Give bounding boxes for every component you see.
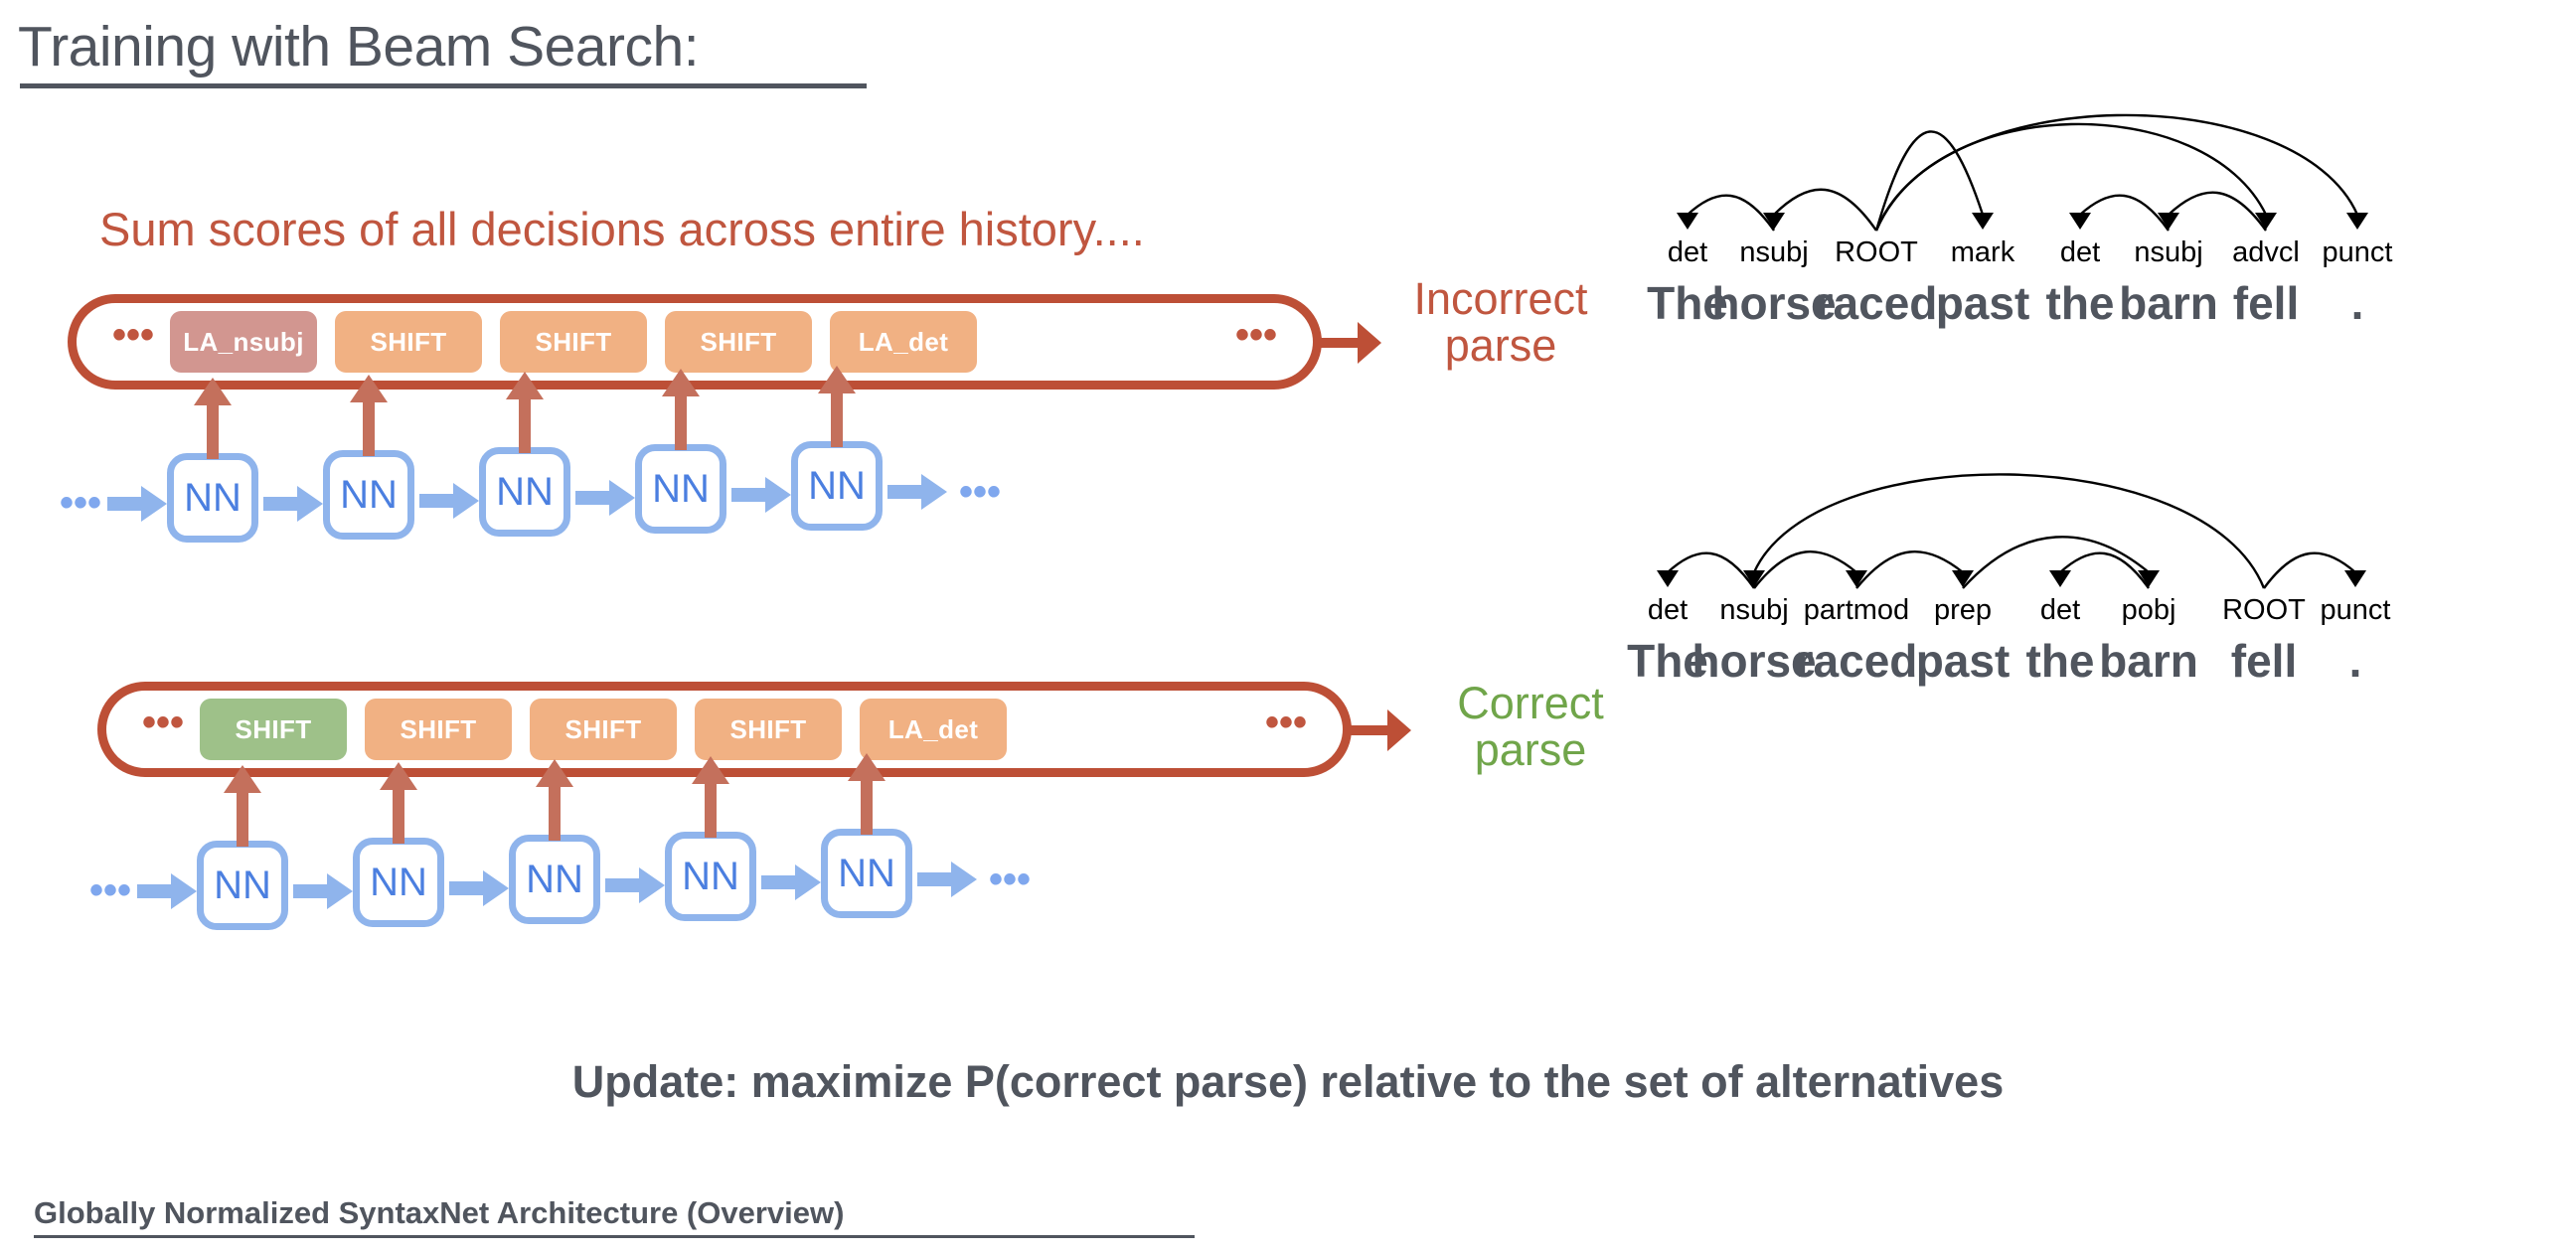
- sentence-word: fell: [2233, 276, 2299, 330]
- nn-flow-arrow-icon: [731, 475, 793, 515]
- decision-chip[interactable]: LA_nsubj: [170, 311, 317, 373]
- dependency-arc: [2264, 553, 2355, 588]
- dependency-arrowhead-icon: [2346, 213, 2368, 230]
- nn-box[interactable]: NN: [791, 441, 883, 531]
- decision-up-arrow-icon: [533, 759, 576, 841]
- sum-scores-caption: Sum scores of all decisions across entir…: [99, 202, 1145, 256]
- dependency-tag: nsubj: [1739, 236, 1808, 269]
- nn-box[interactable]: NN: [509, 835, 600, 924]
- page-title-underline: [20, 83, 867, 88]
- decision-chip[interactable]: SHIFT: [365, 699, 512, 760]
- decision-chip[interactable]: SHIFT: [500, 311, 647, 373]
- decision-up-arrow-icon: [347, 375, 391, 456]
- dependency-arrowhead-icon: [1677, 213, 1698, 230]
- nn-right-ellipsis: •••: [959, 472, 1001, 512]
- dependency-arc: [1668, 553, 1754, 588]
- sentence-word: past: [1936, 276, 2030, 330]
- sentence-words: Thehorseracedpastthebarnfell.: [1620, 634, 2544, 678]
- decision-chip[interactable]: SHIFT: [530, 699, 677, 760]
- decision-up-arrow-icon: [503, 372, 547, 453]
- decision-up-arrow-icon: [845, 753, 888, 835]
- decision-up-arrow-icon: [815, 366, 859, 447]
- sentence-word: barn: [2099, 634, 2198, 688]
- nn-flow-arrow-icon: [575, 478, 637, 518]
- nn-flow-arrow-icon: [605, 865, 667, 905]
- dependency-tag: prep: [1934, 594, 1992, 627]
- decision-up-arrow-icon: [191, 378, 235, 459]
- dependency-arcs: [1640, 60, 2564, 238]
- dependency-arc: [1856, 551, 1963, 588]
- dependency-tag: det: [1668, 236, 1707, 269]
- decision-chip[interactable]: SHIFT: [200, 699, 347, 760]
- dependency-tag: det: [2060, 236, 2100, 269]
- dependency-tag: partmod: [1804, 594, 1909, 627]
- dependency-arrowhead-icon: [2049, 570, 2071, 587]
- incorrect-parse-label: Incorrect parse: [1371, 276, 1630, 370]
- decision-up-arrow-icon: [689, 756, 732, 838]
- nn-flow-arrow-icon: [419, 481, 481, 521]
- nn-box[interactable]: NN: [197, 841, 288, 930]
- dependency-tags: detnsubjROOTmarkdetnsubjadvclpunct: [1640, 236, 2564, 280]
- dependency-tag: det: [1648, 594, 1688, 627]
- sentence-word: raced: [1816, 276, 1938, 330]
- update-caption: Update: maximize P(correct parse) relati…: [0, 1056, 2576, 1108]
- footer-underline: [34, 1235, 1195, 1238]
- dependency-tag: nsubj: [1719, 594, 1788, 627]
- nn-flow-arrow-icon: [263, 484, 325, 524]
- dependency-tag: det: [2040, 594, 2080, 627]
- beam-right-ellipsis: •••: [1249, 703, 1317, 756]
- nn-box[interactable]: NN: [665, 832, 756, 921]
- sentence-word: the: [2046, 276, 2115, 330]
- nn-box[interactable]: NN: [821, 829, 912, 918]
- nn-left-ellipsis: •••: [89, 870, 131, 910]
- dependency-arc: [2060, 553, 2149, 588]
- dependency-arc: [2080, 196, 2169, 231]
- decision-chip[interactable]: SHIFT: [695, 699, 842, 760]
- sentence-word: the: [2026, 634, 2095, 688]
- nn-box[interactable]: NN: [635, 444, 726, 534]
- dependency-tag: punct: [2321, 594, 2391, 627]
- dependency-arc: [1774, 190, 1876, 231]
- correct-parse-label: Correct parse: [1401, 681, 1660, 774]
- beam-right-ellipsis: •••: [1219, 315, 1287, 369]
- nn-flow-arrow-icon: [137, 871, 199, 911]
- dependency-tag: mark: [1951, 236, 2014, 269]
- decision-chip[interactable]: SHIFT: [665, 311, 812, 373]
- decision-chip[interactable]: SHIFT: [335, 311, 482, 373]
- sentence-word: past: [1916, 634, 2011, 688]
- dependency-arrowhead-icon: [2069, 213, 2091, 230]
- nn-left-ellipsis: •••: [60, 483, 101, 523]
- decision-chip[interactable]: LA_det: [860, 699, 1007, 760]
- nn-box[interactable]: NN: [323, 450, 414, 540]
- decision-up-arrow-icon: [377, 762, 420, 844]
- footer-title: Globally Normalized SyntaxNet Architectu…: [34, 1195, 844, 1231]
- nn-flow-arrow-icon: [761, 862, 823, 902]
- beam-left-ellipsis: •••: [102, 315, 170, 369]
- beam-left-ellipsis: •••: [132, 703, 200, 756]
- dependency-tag: pobj: [2122, 594, 2176, 627]
- sentence-word: .: [2349, 634, 2362, 688]
- page-title: Training with Beam Search:: [18, 14, 699, 79]
- decision-up-arrow-icon: [221, 765, 264, 847]
- dependency-tag: punct: [2323, 236, 2393, 269]
- dependency-arrowhead-icon: [2344, 570, 2366, 587]
- nn-box[interactable]: NN: [479, 447, 570, 537]
- sentence-word: .: [2351, 276, 2364, 330]
- dependency-arc: [1688, 196, 1774, 231]
- dependency-arrowhead-icon: [1657, 570, 1679, 587]
- dependency-arc: [1876, 115, 2357, 231]
- dependency-arrowhead-icon: [1972, 213, 1994, 230]
- dependency-tag: nsubj: [2134, 236, 2202, 269]
- dependency-tags: detnsubjpartmodprepdetpobjROOTpunct: [1620, 594, 2544, 638]
- sentence-word: barn: [2119, 276, 2218, 330]
- dependency-arc: [2169, 193, 2266, 231]
- sentence-word: fell: [2231, 634, 2297, 688]
- nn-box[interactable]: NN: [167, 453, 258, 543]
- dependency-tag: ROOT: [1835, 236, 1918, 269]
- nn-right-ellipsis: •••: [989, 860, 1031, 899]
- nn-flow-arrow-icon: [449, 868, 511, 908]
- sentence-words: Thehorseracedpastthebarnfell.: [1640, 276, 2564, 320]
- dependency-tag: ROOT: [2222, 594, 2306, 627]
- dependency-arc: [1963, 537, 2149, 588]
- decision-up-arrow-icon: [659, 369, 703, 450]
- dependency-arc: [1754, 474, 2264, 588]
- dependency-arcs: [1620, 417, 2544, 596]
- nn-flow-arrow-icon: [887, 472, 949, 512]
- nn-box[interactable]: NN: [353, 838, 444, 927]
- dependency-tag: advcl: [2232, 236, 2300, 269]
- nn-flow-arrow-icon: [107, 484, 169, 524]
- sentence-word: raced: [1796, 634, 1918, 688]
- decision-chip[interactable]: LA_det: [830, 311, 977, 373]
- nn-flow-arrow-icon: [917, 860, 979, 899]
- nn-flow-arrow-icon: [293, 871, 355, 911]
- dependency-arc: [1754, 551, 1856, 588]
